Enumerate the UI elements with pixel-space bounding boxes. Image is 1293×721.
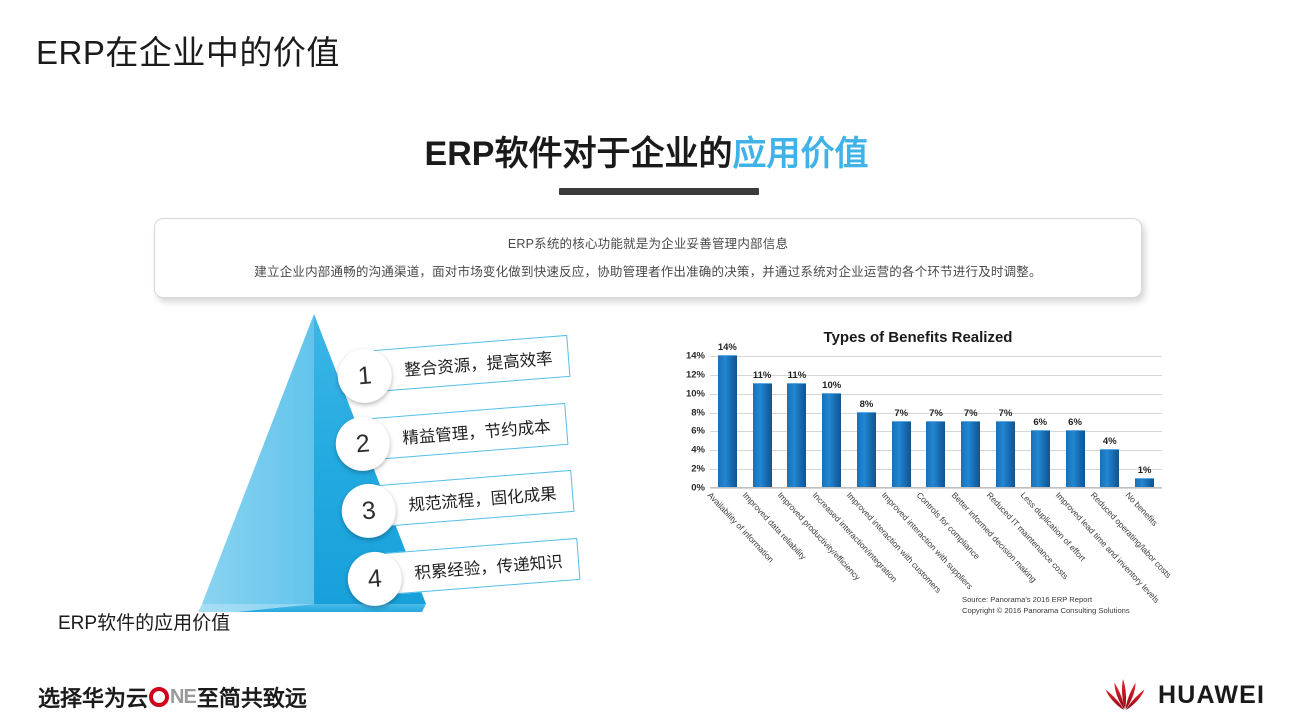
chart-bar-slot: 7%: [884, 356, 919, 488]
chart-bar-slot: 7%: [988, 356, 1023, 488]
chart-bar-slot: 11%: [780, 356, 815, 488]
chart-bar-value-label: 7%: [999, 408, 1013, 419]
chart-gridline: 0%: [710, 488, 1162, 489]
chart-source-line-2: Copyright © 2016 Panorama Consulting Sol…: [962, 605, 1130, 616]
chart-bar-slot: 6%: [1058, 356, 1093, 488]
chart-bar: 11%: [787, 383, 806, 488]
chart-bar: 8%: [857, 412, 876, 488]
chart-source-line-1: Source: Panorama's 2016 ERP Report: [962, 594, 1130, 605]
chart-bar: 7%: [996, 421, 1015, 488]
chart-bar: 6%: [1066, 430, 1085, 488]
chart-y-tick-label: 4%: [691, 445, 705, 456]
chart-bar-slot: 8%: [849, 356, 884, 488]
chart-bar-value-label: 6%: [1033, 417, 1047, 428]
chart-x-label: Controls for compliance: [915, 490, 982, 561]
footer-slogan-left: 选择华为云: [38, 681, 148, 713]
chart-bar: 7%: [926, 421, 945, 488]
chart-bar-value-label: 7%: [964, 408, 978, 419]
chart-bar: 7%: [892, 421, 911, 488]
huawei-logo: HUAWEI: [1102, 678, 1265, 712]
chart-bars: 14%11%11%10%8%7%7%7%7%6%6%4%1%: [710, 356, 1162, 488]
chart-bar-value-label: 1%: [1138, 465, 1152, 476]
chart-x-label: Availability of information: [706, 490, 776, 564]
chart-y-tick-label: 0%: [691, 483, 705, 494]
chart-x-tick-labels: Availability of informationImproved data…: [710, 490, 1162, 610]
chart-bar-slot: 14%: [710, 356, 745, 488]
chart-bar-value-label: 4%: [1103, 436, 1117, 447]
footer-slogan: 选择华为云 NE 至简共致远: [38, 681, 307, 713]
chart-y-tick-label: 8%: [691, 407, 705, 418]
chart-bar: 4%: [1100, 449, 1119, 488]
chart-bar: 11%: [753, 383, 772, 488]
chart-bar-slot: 6%: [1023, 356, 1058, 488]
pyramid-diagram: 1 整合资源，提高效率 2 精益管理，节约成本 3 规范流程，固化成果 4 积累…: [196, 306, 626, 636]
chart-bar: 7%: [961, 421, 980, 488]
chart-bar-slot: 7%: [919, 356, 954, 488]
chart-x-label: Improved data reliability: [741, 490, 809, 562]
content-heading-dark: ERP软件对于企业的: [425, 135, 733, 173]
chart-bar-value-label: 7%: [894, 408, 908, 419]
chart-x-label: No benefits: [1123, 490, 1159, 528]
pyramid-caption: ERP软件的应用价值: [58, 608, 230, 635]
chart-bar-value-label: 11%: [753, 370, 772, 381]
chart-x-axis: [710, 487, 1162, 488]
chart-x-label: Less duplication of effort: [1019, 490, 1088, 563]
content-heading-accent: 应用价值: [732, 135, 868, 173]
chart-bar-value-label: 7%: [929, 408, 943, 419]
chart-bar: 14%: [718, 355, 737, 488]
chart-bar-slot: 7%: [953, 356, 988, 488]
description-line-1: ERP系统的核心功能就是为企业妥善管理内部信息: [508, 235, 788, 254]
content-heading: ERP软件对于企业的应用价值: [0, 126, 1293, 175]
chart-title: Types of Benefits Realized: [662, 329, 1174, 346]
chart-y-tick-label: 14%: [686, 351, 705, 362]
chart-source-note: Source: Panorama's 2016 ERP Report Copyr…: [962, 594, 1130, 616]
chart-bar: 10%: [822, 393, 841, 488]
chart-bar-slot: 10%: [814, 356, 849, 488]
chart-bar-slot: 11%: [745, 356, 780, 488]
chart-y-tick-label: 10%: [686, 388, 705, 399]
cloud-one-logo-icon: NE: [149, 686, 196, 709]
chart-bar: 6%: [1031, 430, 1050, 488]
description-box: ERP系统的核心功能就是为企业妥善管理内部信息 建立企业内部通畅的沟通渠道，面对…: [154, 218, 1142, 298]
chart-bar-slot: 1%: [1127, 356, 1162, 488]
chart-y-tick-label: 12%: [686, 369, 705, 380]
huawei-flower-icon: [1102, 678, 1148, 712]
chart-bar-value-label: 6%: [1068, 417, 1082, 428]
chart-bar-slot: 4%: [1092, 356, 1127, 488]
chart-bar-value-label: 8%: [860, 399, 874, 410]
chart-bar-value-label: 10%: [822, 380, 841, 391]
chart-y-tick-label: 6%: [691, 426, 705, 437]
chart-y-tick-label: 2%: [691, 464, 705, 475]
heading-underline-rule: [559, 188, 759, 195]
chart-plot-area: 0%2%4%6%8%10%12%14% 14%11%11%10%8%7%7%7%…: [710, 356, 1162, 488]
one-ne-text: NE: [170, 686, 196, 709]
one-circle-icon: [149, 687, 169, 707]
description-line-2: 建立企业内部通畅的沟通渠道，面对市场变化做到快速反应，协助管理者作出准确的决策，…: [254, 263, 1041, 282]
benefits-bar-chart: Types of Benefits Realized 0%2%4%6%8%10%…: [662, 322, 1174, 642]
chart-bar-value-label: 11%: [788, 370, 807, 381]
chart-bar-value-label: 14%: [718, 342, 737, 353]
page-title: ERP在企业中的价值: [36, 26, 340, 74]
huawei-wordmark: HUAWEI: [1158, 681, 1265, 710]
footer-slogan-right: 至简共致远: [197, 681, 307, 713]
